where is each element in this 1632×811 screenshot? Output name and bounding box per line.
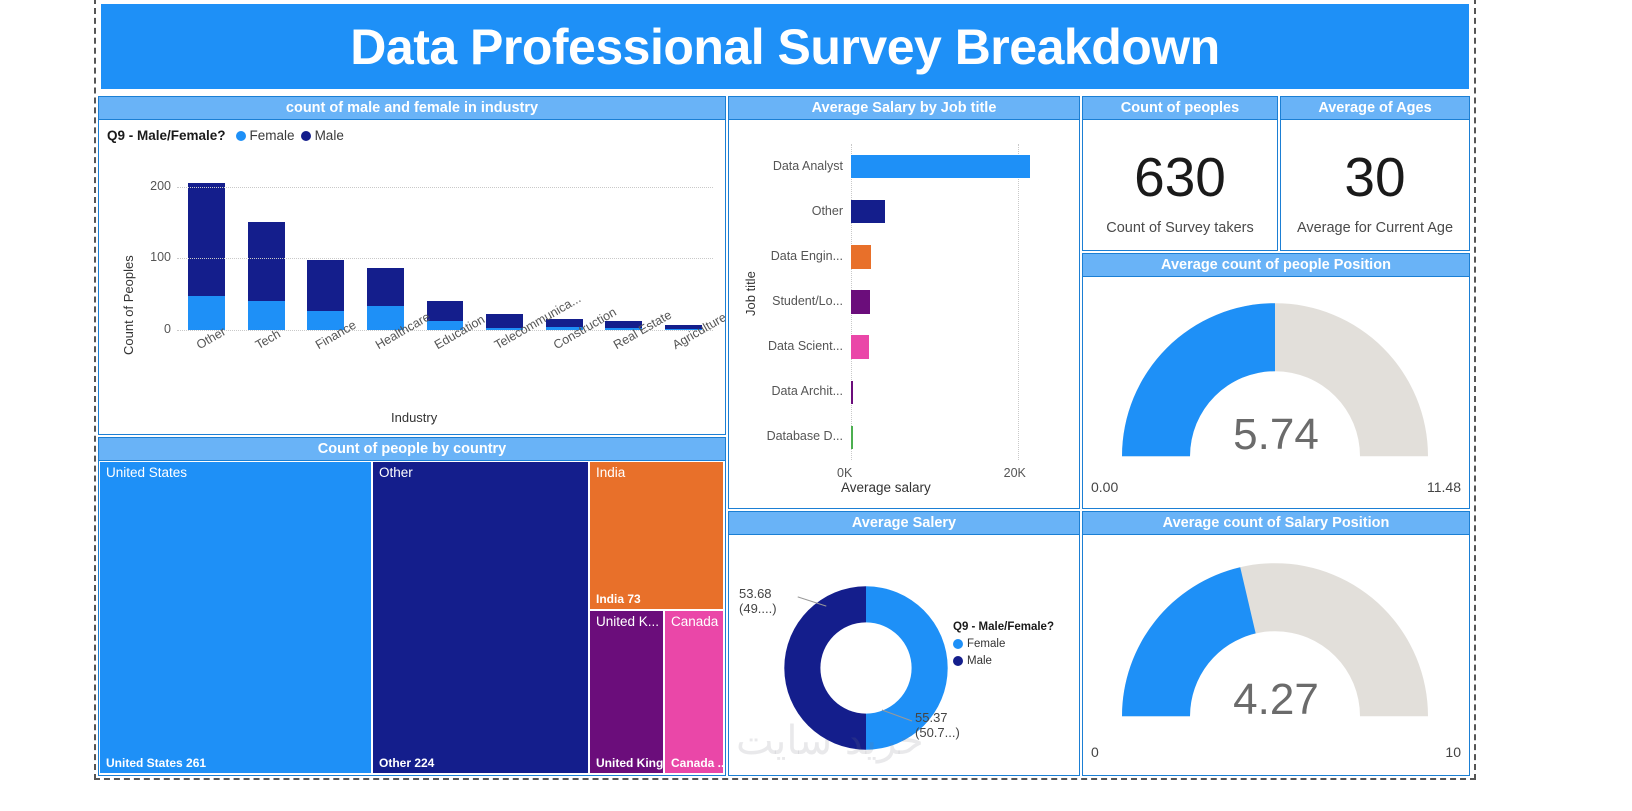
hbar-bar[interactable] [851, 155, 1030, 178]
donut-legend-swatch-female [953, 639, 963, 649]
hbar-body[interactable]: Job title Average salary 0K20KData Analy… [729, 120, 1079, 508]
donut-label-female-value: 55.37 [915, 711, 960, 726]
donut-label-male-percent: (49....) [739, 602, 777, 617]
column-chart-y-tick: 100 [141, 250, 171, 264]
column-chart-gridline [177, 187, 713, 188]
gauge-people-value: 5.74 [1083, 410, 1469, 460]
donut-legend-label-male: Male [967, 655, 992, 667]
count-card-body: 630 Count of Survey takers [1083, 120, 1277, 250]
gauge-salary-min-label: 0 [1091, 744, 1099, 760]
column-chart-body[interactable]: Q9 - Male/Female? Female Male Count of P… [99, 120, 725, 434]
gauge-people-body[interactable]: 5.74 0.00 11.48 [1083, 277, 1469, 508]
gauge-salary-max-label: 10 [1445, 744, 1461, 760]
legend-title: Q9 - Male/Female? [107, 128, 226, 143]
treemap-tile[interactable]: OtherOther 224 [372, 461, 589, 774]
page-title: Data Professional Survey Breakdown [350, 18, 1219, 76]
column-chart-x-axis-title: Industry [391, 410, 437, 425]
hbar-bar[interactable] [851, 335, 869, 358]
donut-label-male-value: 53.68 [739, 587, 777, 602]
hbar-gridline [1018, 144, 1019, 460]
panel-title-gauge-salary: Average count of Salary Position [1083, 512, 1469, 535]
donut-legend[interactable]: Q9 - Male/Female? Female Male [953, 621, 1054, 667]
donut-body[interactable]: 53.68 (49....) 55.37 (50.7...) Q9 - Male… [729, 535, 1079, 775]
treemap-tile-label: Other [379, 465, 413, 480]
age-card-body: 30 Average for Current Age [1281, 120, 1469, 250]
left-gutter [0, 0, 96, 811]
donut-hole [820, 622, 911, 713]
treemap-tile-label: Canada [671, 614, 718, 629]
gauge-salary-value: 4.27 [1083, 675, 1469, 725]
treemap-tile-value: United States 261 [106, 756, 206, 770]
count-card-subtitle: Count of Survey takers [1083, 220, 1277, 236]
column-bar-female[interactable] [248, 301, 285, 330]
column-chart-gridline [177, 258, 713, 259]
column-bar-male[interactable] [367, 268, 404, 305]
panel-average-count-people-position[interactable]: Average count of people Position 5.74 0.… [1082, 253, 1470, 509]
hbar-category-label: Data Archit... [729, 384, 843, 398]
hbar-category-label: Data Engin... [729, 249, 843, 263]
treemap-tile-label: United K... [596, 614, 659, 629]
panel-count-male-female-industry[interactable]: count of male and female in industry Q9 … [98, 96, 726, 435]
hbar-category-label: Data Scient... [729, 339, 843, 353]
donut-legend-swatch-male [953, 656, 963, 666]
hbar-x-tick: 0K [837, 466, 852, 480]
column-chart-y-axis-title: Count of Peoples [121, 255, 136, 355]
hbar-bar[interactable] [851, 381, 853, 404]
panel-title-donut: Average Salery [729, 512, 1079, 535]
hbar-bar[interactable] [851, 290, 870, 313]
gauge-salary-body[interactable]: 4.27 0 10 [1083, 535, 1469, 775]
treemap-area[interactable]: United StatesUnited States 261OtherOther… [99, 461, 725, 775]
panel-title-gauge-people: Average count of people Position [1083, 254, 1469, 277]
column-chart-legend[interactable]: Q9 - Male/Female? Female Male [107, 128, 344, 143]
treemap-tile-label: United States [106, 465, 187, 480]
panel-count-people-by-country[interactable]: Count of people by country United States… [98, 437, 726, 776]
treemap-tile-label: India [596, 465, 625, 480]
panel-title-column-chart: count of male and female in industry [99, 97, 725, 120]
panel-average-salary-by-job-title[interactable]: Average Salary by Job title Job title Av… [728, 96, 1080, 509]
treemap-tile-value: India 73 [596, 592, 641, 606]
hbar-category-label: Database D... [729, 429, 843, 443]
treemap-tile-value: United King... [596, 756, 664, 770]
hbar-x-tick: 20K [1004, 466, 1026, 480]
legend-swatch-male [301, 131, 311, 141]
age-card-value: 30 [1281, 150, 1469, 205]
column-chart-y-tick: 200 [141, 179, 171, 193]
panel-count-of-peoples[interactable]: Count of peoples 630 Count of Survey tak… [1082, 96, 1278, 251]
donut-legend-item-male[interactable]: Male [953, 655, 1054, 667]
treemap-tile-value: Canada ... [671, 756, 724, 770]
right-gutter [1476, 0, 1632, 811]
treemap-tile[interactable]: United K...United King... [589, 610, 664, 774]
donut-label-female-percent: (50.7...) [915, 726, 960, 741]
column-chart-plot-area[interactable] [177, 165, 713, 330]
panel-average-count-salary-position[interactable]: Average count of Salary Position 4.27 0 … [1082, 511, 1470, 776]
bottom-gutter [0, 778, 1632, 811]
column-bar-male[interactable] [248, 222, 285, 302]
donut-legend-item-female[interactable]: Female [953, 638, 1054, 650]
hbar-bar[interactable] [851, 245, 871, 268]
donut-legend-label-female: Female [967, 638, 1005, 650]
donut-label-female: 55.37 (50.7...) [915, 711, 960, 741]
hbar-bar[interactable] [851, 200, 885, 223]
donut-label-male: 53.68 (49....) [739, 587, 777, 617]
hbar-plot-area[interactable]: 0K20KData AnalystOtherData Engin...Stude… [729, 120, 1079, 508]
gauge-people-min-label: 0.00 [1091, 479, 1118, 495]
panel-title-hbar: Average Salary by Job title [729, 97, 1079, 120]
hbar-category-label: Data Analyst [729, 159, 843, 173]
dashboard-root: Data Professional Survey Breakdown count… [0, 0, 1632, 811]
hbar-bar[interactable] [851, 426, 853, 449]
gauge-people-max-label: 11.48 [1427, 479, 1461, 495]
treemap-tile[interactable]: IndiaIndia 73 [589, 461, 724, 610]
age-card-subtitle: Average for Current Age [1281, 220, 1469, 236]
legend-swatch-female [236, 131, 246, 141]
legend-item-female[interactable]: Female [236, 128, 295, 143]
panel-title-age-card: Average of Ages [1281, 97, 1469, 120]
report-canvas: Data Professional Survey Breakdown count… [96, 0, 1474, 778]
legend-label-female: Female [250, 128, 295, 143]
panel-title-count-card: Count of peoples [1083, 97, 1277, 120]
treemap-body[interactable]: United StatesUnited States 261OtherOther… [99, 461, 725, 775]
hbar-category-label: Other [729, 204, 843, 218]
legend-item-male[interactable]: Male [301, 128, 344, 143]
column-chart-y-tick: 0 [141, 322, 171, 336]
dashboard-title-banner: Data Professional Survey Breakdown [101, 4, 1469, 89]
panel-average-of-ages[interactable]: Average of Ages 30 Average for Current A… [1280, 96, 1470, 251]
panel-title-treemap: Count of people by country [99, 438, 725, 461]
column-bar-male[interactable] [188, 183, 225, 296]
hbar-category-label: Student/Lo... [729, 294, 843, 308]
column-bar-male[interactable] [307, 260, 344, 312]
treemap-tile-value: Other 224 [379, 756, 434, 770]
treemap-tile[interactable]: CanadaCanada ... [664, 610, 724, 774]
count-card-value: 630 [1083, 150, 1277, 205]
treemap-tile[interactable]: United StatesUnited States 261 [99, 461, 372, 774]
donut-legend-title: Q9 - Male/Female? [953, 621, 1054, 633]
panel-average-salery[interactable]: Average Salery 53.68 (49....) 55.37 (50.… [728, 511, 1080, 776]
column-bar-male[interactable] [427, 301, 464, 321]
legend-label-male: Male [315, 128, 344, 143]
